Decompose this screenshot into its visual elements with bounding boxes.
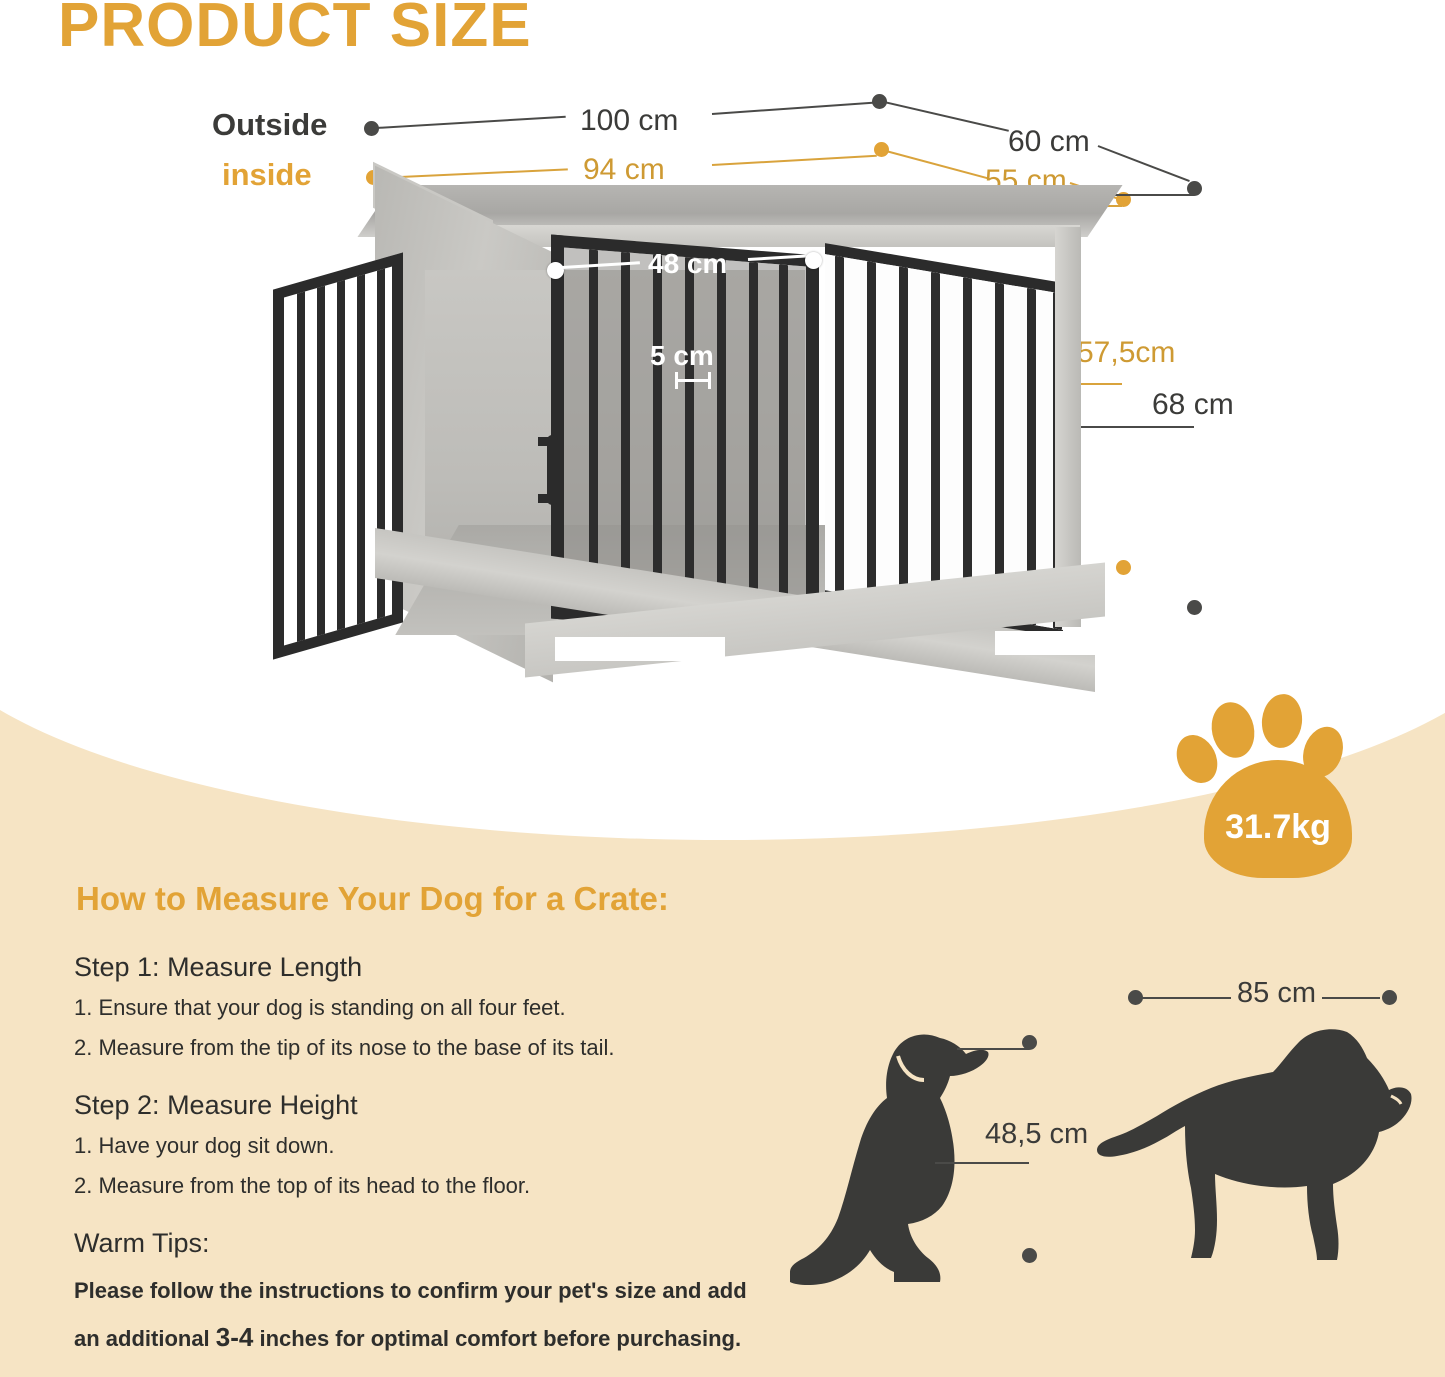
dimension-dog-length: 85 cm	[1237, 977, 1316, 1010]
standing-dog-icon	[1095, 1018, 1415, 1278]
door-bar	[717, 260, 726, 621]
open-door-bar	[297, 291, 305, 641]
open-door-bar	[357, 274, 365, 624]
dimension-inside-width: 94 cm	[583, 153, 665, 187]
cage-bar	[867, 261, 876, 599]
door-frame-right	[806, 255, 819, 640]
door-handle[interactable]	[547, 435, 558, 505]
dim-48cm-dot-left	[547, 262, 564, 279]
cage-bar	[995, 283, 1004, 621]
door-bar	[749, 262, 758, 623]
warm-tips-line-2: an additional 3-4 inches for optimal com…	[74, 1322, 741, 1353]
dog-crate-illustration	[255, 185, 1265, 695]
warm-tips-title: Warm Tips:	[74, 1228, 210, 1259]
dimension-outside-depth: 60 cm	[1008, 125, 1090, 159]
legend-outside-label: Outside	[212, 107, 327, 143]
dim-48cm-dot-right	[805, 252, 822, 269]
door-bar	[685, 257, 694, 618]
step-1-line-1: 1. Ensure that your dog is standing on a…	[74, 995, 566, 1021]
door-bar	[621, 252, 630, 613]
dim-85-dot-right	[1382, 990, 1397, 1005]
dim-85-line-left	[1141, 997, 1231, 999]
crate-open-door[interactable]	[273, 252, 403, 659]
dim-5cm-tick-left	[675, 372, 678, 389]
step-2-title: Step 2: Measure Height	[74, 1090, 358, 1121]
dim-5cm-tick-right	[708, 372, 711, 389]
page-title: PRODUCT SIZE	[58, 0, 532, 61]
sitting-dog-icon	[790, 1010, 1040, 1300]
paw-print-icon: 31.7kg	[1178, 688, 1378, 878]
crate-foot-cutout	[995, 631, 1115, 655]
open-door-bar	[337, 280, 345, 630]
door-bar	[589, 249, 598, 610]
door-bar	[653, 254, 662, 615]
cage-bar	[931, 272, 940, 610]
dimension-bar-spacing: 5 cm	[650, 340, 714, 372]
cage-bar	[963, 277, 972, 615]
step-2-line-1: 1. Have your dog sit down.	[74, 1133, 334, 1159]
warm-tips-line-2-pre: an additional	[74, 1326, 216, 1351]
crate-foot-cutout	[555, 637, 725, 661]
warm-tips-line-2-post: inches for optimal comfort before purcha…	[253, 1326, 741, 1351]
warm-tips-emphasis: 3-4	[216, 1322, 254, 1352]
step-1-title: Step 1: Measure Length	[74, 952, 362, 983]
cage-bar	[835, 256, 844, 594]
warm-tips-line-1: Please follow the instructions to confir…	[74, 1278, 747, 1304]
dimension-dog-height: 48,5 cm	[985, 1118, 1088, 1151]
cage-bar	[899, 266, 908, 604]
paw-toe	[1259, 692, 1304, 750]
weight-badge-value: 31.7kg	[1178, 808, 1378, 847]
dimension-door-width: 48 cm	[648, 248, 727, 280]
open-door-bar	[317, 286, 325, 636]
step-2-line-2: 2. Measure from the top of its head to t…	[74, 1173, 530, 1199]
guide-heading: How to Measure Your Dog for a Crate:	[76, 880, 669, 918]
dim-5cm-arrow-line	[676, 379, 710, 382]
dim-485-line-bottom	[935, 1162, 1029, 1164]
dim-485-dot-bottom	[1022, 1248, 1037, 1263]
step-1-line-2: 2. Measure from the tip of its nose to t…	[74, 1035, 615, 1061]
door-bar	[779, 264, 788, 625]
dim-85-line-right	[1322, 997, 1380, 999]
dimension-outside-width: 100 cm	[580, 104, 678, 138]
dim-485-line-top	[957, 1048, 1029, 1050]
